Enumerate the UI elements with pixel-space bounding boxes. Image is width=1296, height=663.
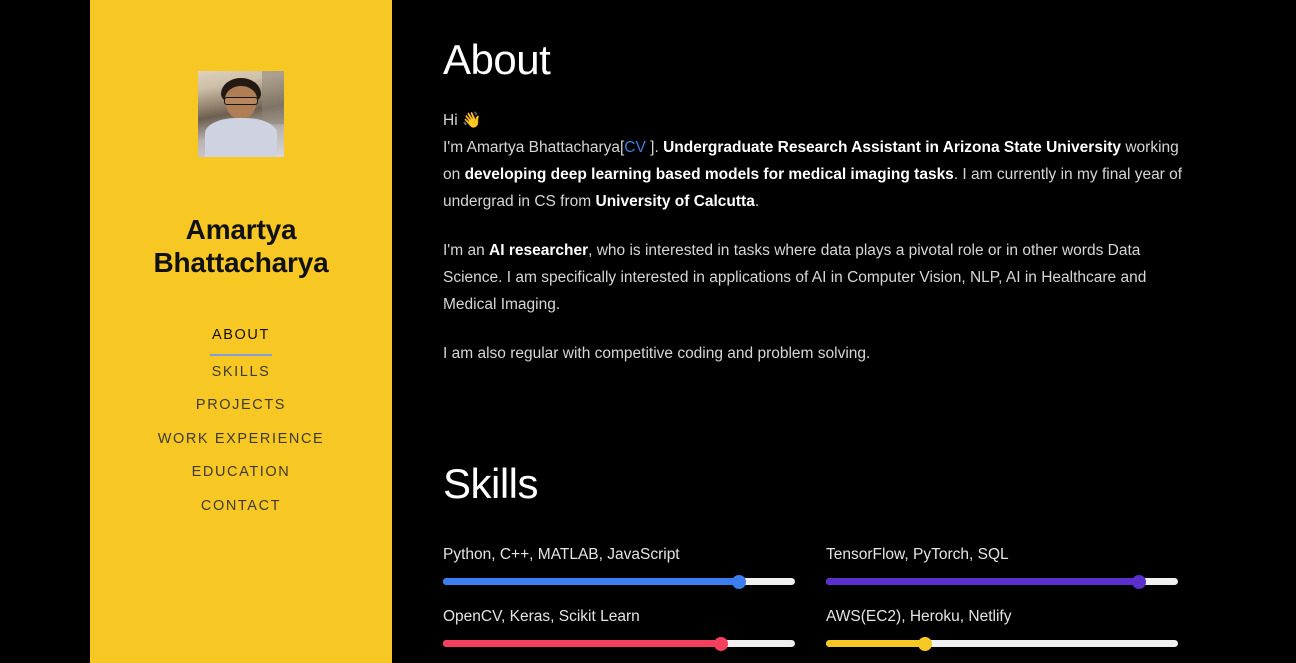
skill-slider[interactable] [443,578,795,585]
skill-label: OpenCV, Keras, Scikit Learn [443,607,795,627]
portfolio-page: Amartya Bhattacharya ABOUT SKILLS PROJEC… [0,0,1296,663]
skill-slider-fill [443,578,739,585]
skill-item: AWS(EC2), Heroku, Netlify [826,607,1178,663]
skill-slider[interactable] [443,640,795,647]
about-paragraph-2: I'm an AI researcher, who is interested … [443,237,1195,318]
skill-label: Python, C++, MATLAB, JavaScript [443,545,795,565]
about-p1-bold-1: Undergraduate Research Assistant in Ariz… [663,139,1121,156]
about-p2-text-a: I'm an [443,242,489,259]
skill-label: TensorFlow, PyTorch, SQL [826,545,1178,565]
skill-slider[interactable] [826,578,1178,585]
skill-label: AWS(EC2), Heroku, Netlify [826,607,1178,627]
skill-item: TensorFlow, PyTorch, SQL [826,545,1178,607]
about-paragraph-3: I am also regular with competitive codin… [443,340,1195,367]
about-body: Hi 👋 I'm Amartya Bhattacharya[CV ]. Unde… [443,107,1195,367]
skill-slider-fill [826,578,1139,585]
skill-slider-thumb[interactable] [732,575,746,589]
sidebar-item-about[interactable]: ABOUT [210,319,272,356]
avatar-background-detail [262,71,284,124]
about-heading: About [443,35,1196,85]
about-p1-text-e: . [755,193,759,210]
sidebar: Amartya Bhattacharya ABOUT SKILLS PROJEC… [90,0,392,663]
cv-link[interactable]: CV [624,139,646,156]
skills-grid: Python, C++, MATLAB, JavaScript TensorFl… [443,545,1196,663]
profile-name: Amartya Bhattacharya [111,213,371,279]
skill-item: OpenCV, Keras, Scikit Learn [443,607,795,663]
skill-slider-thumb[interactable] [714,637,728,651]
sidebar-item-education[interactable]: EDUCATION [190,456,293,490]
sidebar-item-skills[interactable]: SKILLS [210,356,273,390]
sidebar-item-work-experience[interactable]: WORK EXPERIENCE [156,423,327,457]
skill-slider-thumb[interactable] [918,637,932,651]
about-p1-bold-3: University of Calcutta [596,193,755,210]
about-paragraph-1: I'm Amartya Bhattacharya[CV ]. Undergrad… [443,134,1195,215]
sidebar-item-projects[interactable]: PROJECTS [194,389,288,423]
left-gutter [0,0,90,663]
main-content: About Hi 👋 I'm Amartya Bhattacharya[CV ]… [392,0,1296,663]
avatar-glasses-detail [224,97,258,105]
about-p1-text-b: ]. [646,139,663,156]
skills-heading: Skills [443,459,1196,509]
avatar [198,71,284,157]
about-p1-text-a: I'm Amartya Bhattacharya[ [443,139,624,156]
sidebar-item-contact[interactable]: CONTACT [199,490,283,524]
avatar-shirt-detail [205,118,277,157]
sidebar-nav: ABOUT SKILLS PROJECTS WORK EXPERIENCE ED… [90,319,392,523]
skill-slider-thumb[interactable] [1132,575,1146,589]
about-p1-bold-2: developing deep learning based models fo… [465,166,954,183]
skill-item: Python, C++, MATLAB, JavaScript [443,545,795,607]
about-greeting: Hi 👋 [443,107,1195,134]
skill-slider[interactable] [826,640,1178,647]
about-p2-bold: AI researcher [489,242,588,259]
skill-slider-fill [826,640,925,647]
skill-slider-fill [443,640,721,647]
